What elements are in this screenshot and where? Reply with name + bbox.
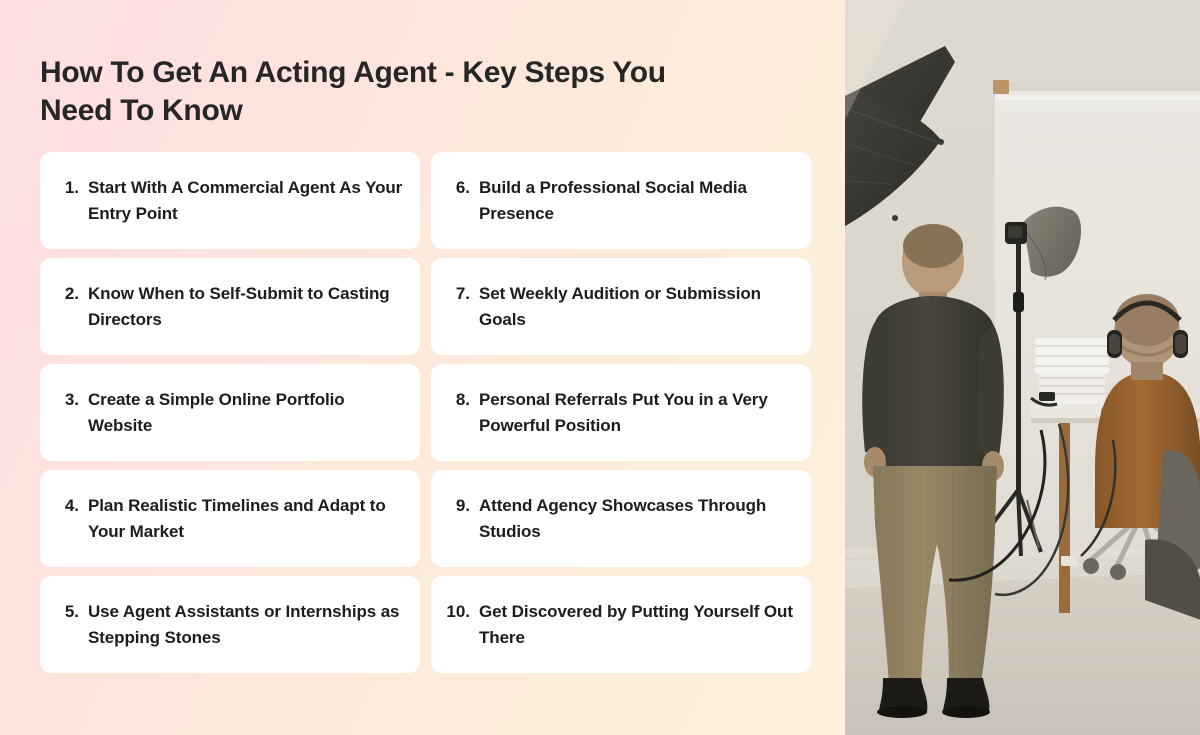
list-item-label: Get Discovered by Putting Yourself Out T… [479, 599, 795, 650]
list-item-label: Use Agent Assistants or Internships as S… [88, 599, 404, 650]
list-item[interactable]: 9. Attend Agency Showcases Through Studi… [431, 470, 811, 567]
list-item[interactable]: 1. Start With A Commercial Agent As Your… [40, 152, 420, 249]
left-column: 1. Start With A Commercial Agent As Your… [40, 152, 420, 673]
page-title: How To Get An Acting Agent - Key Steps Y… [0, 40, 770, 131]
list-item[interactable]: 10. Get Discovered by Putting Yourself O… [431, 576, 811, 673]
list-item[interactable]: 5. Use Agent Assistants or Internships a… [40, 576, 420, 673]
list-item-number: 8. [445, 387, 479, 413]
list-item-number: 3. [54, 387, 88, 413]
list-item[interactable]: 4. Plan Realistic Timelines and Adapt to… [40, 470, 420, 567]
list-item-label: Set Weekly Audition or Submission Goals [479, 281, 795, 332]
list-item-number: 9. [445, 493, 479, 519]
list-item-number: 2. [54, 281, 88, 307]
list-item-label: Know When to Self-Submit to Casting Dire… [88, 281, 404, 332]
list-item-label: Create a Simple Online Portfolio Website [88, 387, 404, 438]
list-item-number: 1. [54, 175, 88, 201]
list-item-number: 4. [54, 493, 88, 519]
content-panel: How To Get An Acting Agent - Key Steps Y… [0, 0, 845, 735]
list-item-number: 7. [445, 281, 479, 307]
list-item-number: 10. [445, 599, 479, 625]
list-item[interactable]: 3. Create a Simple Online Portfolio Webs… [40, 364, 420, 461]
steps-grid: 1. Start With A Commercial Agent As Your… [40, 152, 812, 673]
list-item-label: Personal Referrals Put You in a Very Pow… [479, 387, 795, 438]
list-item[interactable]: 6. Build a Professional Social Media Pre… [431, 152, 811, 249]
list-item-label: Attend Agency Showcases Through Studios [479, 493, 795, 544]
right-column: 6. Build a Professional Social Media Pre… [431, 152, 811, 673]
list-item-number: 6. [445, 175, 479, 201]
list-item[interactable]: 8. Personal Referrals Put You in a Very … [431, 364, 811, 461]
list-item[interactable]: 7. Set Weekly Audition or Submission Goa… [431, 258, 811, 355]
list-item-number: 5. [54, 599, 88, 625]
studio-photo [845, 0, 1200, 735]
list-item-label: Start With A Commercial Agent As Your En… [88, 175, 404, 226]
list-item-label: Build a Professional Social Media Presen… [479, 175, 795, 226]
list-item-label: Plan Realistic Timelines and Adapt to Yo… [88, 493, 404, 544]
list-item[interactable]: 2. Know When to Self-Submit to Casting D… [40, 258, 420, 355]
